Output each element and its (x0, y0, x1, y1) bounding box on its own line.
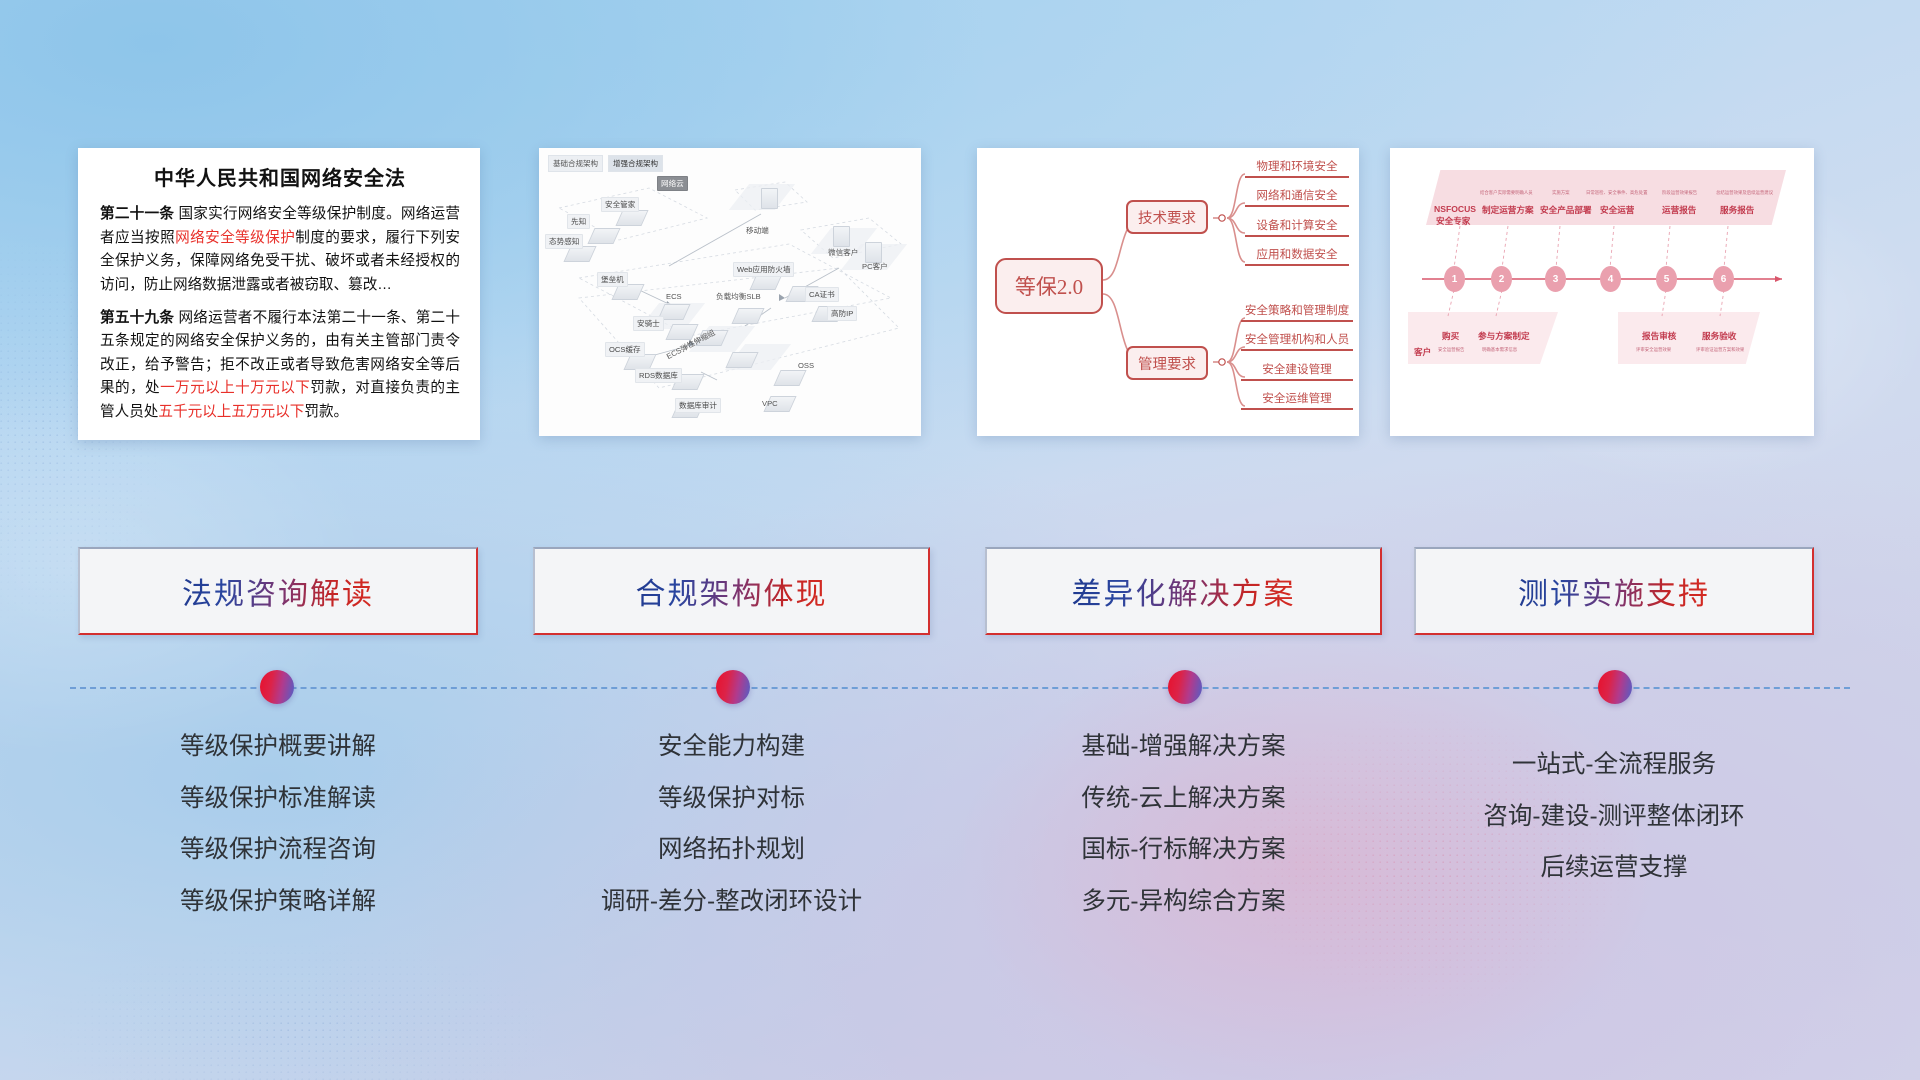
top-step-5-sub: 总结运营效果及后续运营建议 (1716, 190, 1773, 196)
bottom-step-2-main: 参与方案制定 (1478, 330, 1530, 342)
timeline-step-number-2[interactable]: 2 (1491, 266, 1512, 292)
arch-label-situational: 态势感知 (545, 234, 583, 249)
law-run-2-1: 一万元以上十万元以下 (160, 380, 310, 396)
law-article-label-1: 第二十一条 (100, 206, 174, 222)
service-item: 等级保护标准解读 (78, 787, 478, 812)
arch-node-icon-mobile (761, 188, 778, 209)
mindmap-branch-technical[interactable]: 技术要求 (1126, 200, 1208, 234)
arch-label-pc: PC客户 (859, 260, 891, 273)
law-run-2-4: 罚款。 (304, 404, 348, 420)
top-step-3-main: 安全运营 (1600, 204, 1634, 216)
arch-label-rds: RDS数据库 (635, 368, 682, 383)
top-step-4-main: 运营报告 (1662, 204, 1696, 216)
bottom-step-1-main: 购买 (1442, 330, 1459, 342)
timeline-step-number-4[interactable]: 4 (1600, 266, 1621, 292)
heading-label-3: 差异化解决方案 (1072, 569, 1296, 613)
mindmap-leaf-mgmt-3[interactable]: 安全建设管理 (1241, 361, 1353, 381)
arch-label-vpc: VPC (759, 398, 781, 409)
card-service-timeline[interactable]: NSFOCUS 安全专家 客户 结合客户实际需要明确人员 制定运营方案 实施方案… (1390, 148, 1814, 436)
service-item: 咨询-建设-测评整体闭环 (1414, 805, 1814, 830)
top-step-2-sub: 实施方案 (1552, 190, 1570, 196)
mindmap-leaf-mgmt-2[interactable]: 安全管理机构和人员 (1241, 331, 1353, 351)
timeline-dashed-line (70, 687, 1850, 689)
arch-node-icon-wechat (833, 226, 850, 247)
timeline-dot-1[interactable] (260, 670, 294, 704)
heading-label-2: 合规架构体现 (636, 569, 828, 613)
heading-box-compliance-architecture[interactable]: 合规架构体现 (533, 547, 930, 635)
bottom-step-3-main: 报告审核 (1642, 330, 1676, 342)
mindmap-leaf-tech-3[interactable]: 设备和计算安全 (1245, 217, 1349, 237)
bottom-step-3-sub: 评审安全运营效果 (1636, 347, 1671, 353)
top-step-2-main: 安全产品部署 (1540, 204, 1592, 216)
service-column-2: 安全能力构建 等级保护对标 网络拓扑规划 调研-差分-整改闭环设计 (533, 735, 930, 941)
heading-box-regulation-consulting[interactable]: 法规咨询解读 (78, 547, 478, 635)
service-item: 等级保护策略详解 (78, 890, 478, 915)
timeline-step-number-1[interactable]: 1 (1444, 266, 1465, 292)
law-body: 中华人民共和国网络安全法 第二十一条 国家实行网络安全等级保护制度。网络运营者应… (78, 148, 480, 440)
card-mindmap[interactable]: 等保2.0 技术要求 管理要求 物理和环境安全 网络和通信安全 设备和计算安全 … (977, 148, 1359, 436)
law-title: 中华人民共和国网络安全法 (100, 162, 460, 191)
mindmap-leaf-tech-1[interactable]: 物理和环境安全 (1245, 158, 1349, 178)
mindmap-leaf-tech-4[interactable]: 应用和数据安全 (1245, 246, 1349, 266)
arch-label-agent: 安骑士 (633, 316, 664, 331)
arch-label-oss: OSS (795, 360, 817, 371)
top-step-1-main: 制定运营方案 (1482, 204, 1534, 216)
mindmap-leaf-mgmt-1[interactable]: 安全策略和管理制度 (1241, 302, 1353, 322)
top-step-1-sub: 结合客户实际需要明确人员 (1480, 190, 1533, 196)
service-item: 安全能力构建 (533, 735, 930, 760)
bottom-step-2-sub: 明确基本需求信息 (1482, 347, 1517, 353)
mindmap-root-node[interactable]: 等保2.0 (995, 258, 1103, 314)
preview-card-row: 中华人民共和国网络安全法 第二十一条 国家实行网络安全等级保护制度。网络运营者应… (0, 148, 1920, 448)
process-timeline (70, 686, 1850, 690)
service-item: 传统-云上解决方案 (985, 787, 1382, 812)
timeline-step-number-6[interactable]: 6 (1713, 266, 1734, 292)
architecture-canvas: 基础合规架构 增强合规架构 (539, 148, 921, 436)
timeline-dot-4[interactable] (1598, 670, 1632, 704)
provider-label-line2: 安全专家 (1436, 215, 1470, 227)
mindmap-branch-management[interactable]: 管理要求 (1126, 346, 1208, 380)
timeline-step-number-5[interactable]: 5 (1656, 266, 1677, 292)
service-item: 等级保护流程咨询 (78, 838, 478, 863)
service-column-1: 等级保护概要讲解 等级保护标准解读 等级保护流程咨询 等级保护策略详解 (78, 735, 478, 941)
arch-label-butler: 安全管家 (601, 197, 639, 212)
arch-label-db-audit: 数据库审计 (675, 398, 721, 413)
arch-label-waf: Web应用防火墙 (733, 262, 794, 277)
service-item: 一站式-全流程服务 (1414, 753, 1814, 778)
service-column-4: 一站式-全流程服务 咨询-建设-测评整体闭环 后续运营支撑 (1414, 735, 1814, 908)
service-item: 后续运营支撑 (1414, 856, 1814, 881)
mindmap-leaf-mgmt-4[interactable]: 安全运维管理 (1241, 390, 1353, 410)
top-step-5-main: 服务报告 (1720, 204, 1754, 216)
arch-label-cloud: 网络云 (657, 176, 688, 191)
service-item: 多元-异构综合方案 (985, 890, 1382, 915)
mindmap-leaf-tech-2[interactable]: 网络和通信安全 (1245, 187, 1349, 207)
card-architecture-diagram[interactable]: 基础合规架构 增强合规架构 (539, 148, 921, 436)
arch-label-ocs: OCS缓存 (605, 342, 645, 357)
customer-label: 客户 (1414, 346, 1431, 358)
service-timeline-canvas: NSFOCUS 安全专家 客户 结合客户实际需要明确人员 制定运营方案 实施方案… (1390, 148, 1814, 436)
bottom-step-1-sub: 安全运营报告 (1438, 347, 1464, 353)
service-item: 国标-行标解决方案 (985, 838, 1382, 863)
top-step-3-sub: 日常巡检、安全事件、高危处置 (1586, 190, 1647, 196)
arch-label-slb: 负载均衡SLB (713, 290, 764, 303)
top-step-4-sub: 阶段运营效果报告 (1662, 190, 1697, 196)
arch-label-xianzhi: 先知 (567, 214, 590, 229)
bottom-step-4-main: 服务验收 (1702, 330, 1736, 342)
arch-label-wechat: 微信客户 (825, 246, 861, 259)
provider-label-line1: NSFOCUS (1434, 204, 1476, 214)
timeline-dot-3[interactable] (1168, 670, 1202, 704)
arch-label-bastion: 堡垒机 (597, 272, 628, 287)
timeline-step-number-3[interactable]: 3 (1545, 266, 1566, 292)
service-item: 等级保护概要讲解 (78, 735, 478, 760)
heading-label-4: 测评实施支持 (1518, 569, 1710, 613)
service-column-3: 基础-增强解决方案 传统-云上解决方案 国标-行标解决方案 多元-异构综合方案 (985, 735, 1382, 941)
card-law-document[interactable]: 中华人民共和国网络安全法 第二十一条 国家实行网络安全等级保护制度。网络运营者应… (78, 148, 480, 440)
arch-label-ca: CA证书 (805, 287, 839, 302)
law-paragraph-1: 第二十一条 国家实行网络安全等级保护制度。网络运营者应当按照网络安全等级保护制度… (100, 203, 460, 298)
law-run-2-3: 五千元以上五万元以下 (158, 404, 304, 420)
law-run-1-1: 网络安全等级保护 (175, 230, 295, 246)
arch-label-mobile: 移动端 (743, 224, 772, 237)
service-item: 基础-增强解决方案 (985, 735, 1382, 760)
service-item: 网络拓扑规划 (533, 838, 930, 863)
service-item: 调研-差分-整改闭环设计 (533, 890, 930, 915)
law-article-label-2: 第五十九条 (100, 310, 174, 326)
heading-box-differentiated-solution[interactable]: 差异化解决方案 (985, 547, 1382, 635)
mindmap-canvas: 等保2.0 技术要求 管理要求 物理和环境安全 网络和通信安全 设备和计算安全 … (977, 148, 1359, 436)
service-item: 等级保护对标 (533, 787, 930, 812)
bottom-step-4-sub: 评审验证运营方案和效果 (1696, 347, 1744, 353)
heading-box-evaluation-support[interactable]: 测评实施支持 (1414, 547, 1814, 635)
arch-label-antiddos: 高防IP (827, 306, 857, 321)
timeline-dot-2[interactable] (716, 670, 750, 704)
heading-box-row: 法规咨询解读 合规架构体现 差异化解决方案 测评实施支持 (0, 547, 1920, 637)
heading-label-1: 法规咨询解读 (182, 569, 374, 613)
arch-label-ecs: ECS (663, 291, 685, 302)
law-paragraph-2: 第五十九条 网络运营者不履行本法第二十一条、第二十五条规定的网络安全保护义务的，… (100, 307, 460, 425)
